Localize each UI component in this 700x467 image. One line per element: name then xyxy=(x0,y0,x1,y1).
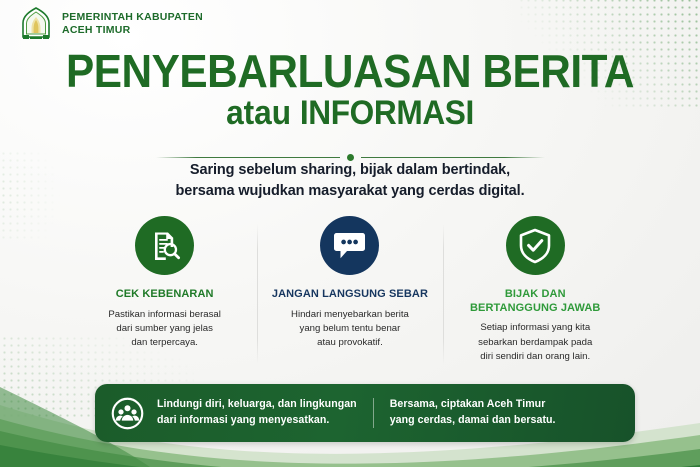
brand-text: PEMERINTAH KABUPATEN ACEH TIMUR xyxy=(62,11,203,37)
people-group-icon xyxy=(111,397,144,430)
tip-body-2-line-2: yang belum tentu benar xyxy=(263,322,436,336)
tip-badge-2 xyxy=(320,216,379,275)
footer-left-line-2: dari informasi yang menyesatkan. xyxy=(157,413,357,429)
brand-line-2: ACEH TIMUR xyxy=(62,24,203,37)
tip-body-1: Pastikan informasi berasal dari sumber y… xyxy=(78,308,251,351)
divider-rule-right xyxy=(361,157,545,158)
tip-title-3: BIJAK DAN BERTANGGUNG JAWAB xyxy=(449,288,622,315)
footer-banner-left-text: Lindungi diri, keluarga, dan lingkungan … xyxy=(157,397,357,429)
chat-bubble-icon xyxy=(333,230,366,261)
tip-body-2-line-3: atau provokatif. xyxy=(263,336,436,350)
title-line-2: atau INFORMASI xyxy=(25,96,676,132)
tip-title-3-line-2: BERTANGGUNG JAWAB xyxy=(449,302,622,316)
poster-subtitle: Saring sebelum sharing, bijak dalam bert… xyxy=(0,160,700,202)
tip-column-bijak-dan-bertanggung-jawab: BIJAK DAN BERTANGGUNG JAWAB Setiap infor… xyxy=(443,216,628,364)
title-line-1: PENYEBARLUASAN BERITA xyxy=(28,49,672,94)
brand-header: PEMERINTAH KABUPATEN ACEH TIMUR xyxy=(19,7,203,40)
footer-left-line-1: Lindungi diri, keluarga, dan lingkungan xyxy=(157,397,357,413)
tip-body-3-line-2: sebarkan berdampak pada xyxy=(449,336,622,350)
footer-banner-separator xyxy=(373,398,374,428)
mosque-emblem-icon xyxy=(19,7,53,40)
tip-title-1: CEK KEBENARAN xyxy=(78,288,251,302)
tip-body-3-line-1: Setiap informasi yang kita xyxy=(449,321,622,335)
subtitle-line-1: Saring sebelum sharing, bijak dalam bert… xyxy=(0,160,700,181)
footer-banner: Lindungi diri, keluarga, dan lingkungan … xyxy=(95,384,635,442)
tip-body-2-line-1: Hindari menyebarkan berita xyxy=(263,308,436,322)
tip-badge-3 xyxy=(506,216,565,275)
divider-rule-left xyxy=(156,157,340,158)
title-line-2-heavy: INFORMASI xyxy=(300,94,474,132)
infographic-poster: PEMERINTAH KABUPATEN ACEH TIMUR PENYEBAR… xyxy=(0,0,700,467)
tip-body-1-line-1: Pastikan informasi berasal xyxy=(78,308,251,322)
document-search-icon xyxy=(148,229,182,263)
tip-body-1-line-3: dan terpercaya. xyxy=(78,336,251,350)
tip-body-1-line-2: dari sumber yang jelas xyxy=(78,322,251,336)
tip-column-cek-kebenaran: CEK KEBENARAN Pastikan informasi berasal… xyxy=(72,216,257,351)
tip-title-2: JANGAN LANGSUNG SEBAR xyxy=(263,288,436,302)
title-line-2-light: atau xyxy=(226,94,300,132)
subtitle-line-2: bersama wujudkan masyarakat yang cerdas … xyxy=(0,181,700,202)
footer-right-line-2: yang cerdas, damai dan bersatu. xyxy=(390,413,556,429)
tip-body-3-line-3: diri sendiri dan orang lain. xyxy=(449,350,622,364)
tips-columns: CEK KEBENARAN Pastikan informasi berasal… xyxy=(72,216,628,371)
tip-body-3: Setiap informasi yang kita sebarkan berd… xyxy=(449,321,622,364)
tip-column-jangan-langsung-sebar: JANGAN LANGSUNG SEBAR Hindari menyebarka… xyxy=(257,216,442,351)
footer-banner-right-text: Bersama, ciptakan Aceh Timur yang cerdas… xyxy=(390,397,556,429)
shield-check-icon xyxy=(518,228,552,264)
footer-right-line-1: Bersama, ciptakan Aceh Timur xyxy=(390,397,556,413)
brand-line-1: PEMERINTAH KABUPATEN xyxy=(62,11,203,24)
tip-body-2: Hindari menyebarkan berita yang belum te… xyxy=(263,308,436,351)
tip-title-3-line-1: BIJAK DAN xyxy=(449,288,622,302)
tip-badge-1 xyxy=(135,216,194,275)
poster-title: PENYEBARLUASAN BERITA atau INFORMASI xyxy=(0,49,700,132)
